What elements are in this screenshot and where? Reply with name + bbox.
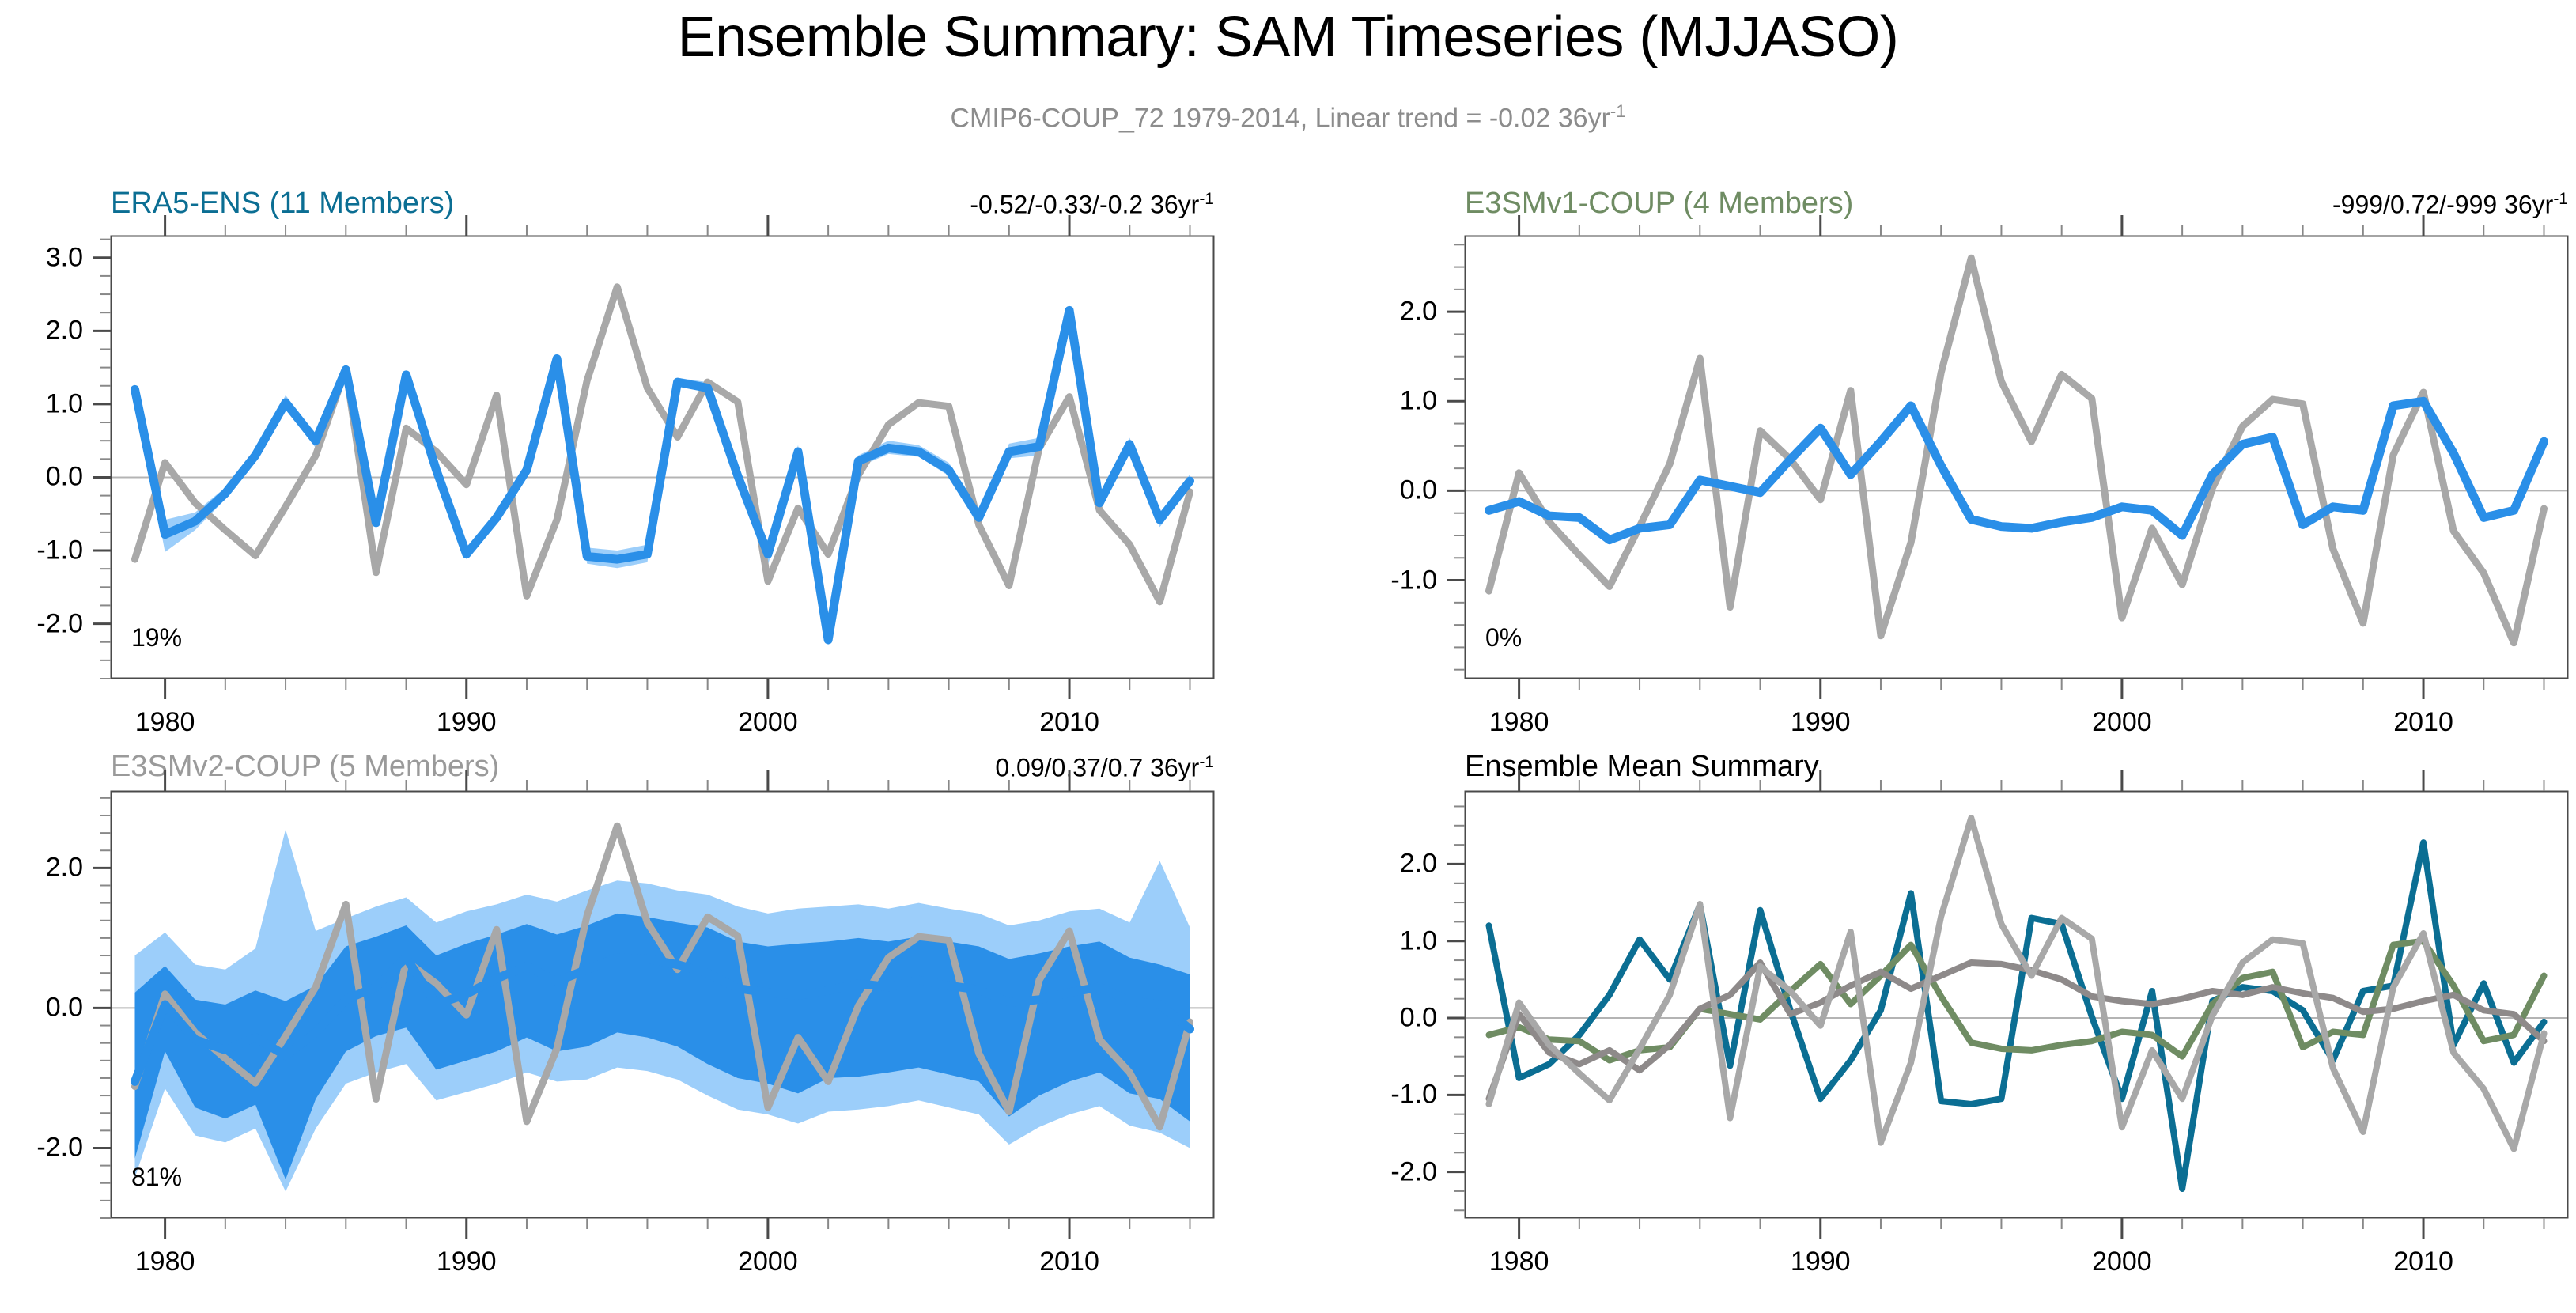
panel-title-era5-ens: ERA5-ENS (11 Members) bbox=[111, 187, 454, 221]
panel-title-e3smv1-coup: E3SMv1-COUP (4 Members) bbox=[1465, 187, 1853, 221]
figure-subtitle: CMIP6-COUP_72 1979-2014, Linear trend = … bbox=[0, 101, 2576, 134]
x-tick-label: 2010 bbox=[2393, 707, 2453, 738]
y-tick-label: 1.0 bbox=[1338, 925, 1437, 956]
panel-stat-exponent: -1 bbox=[1199, 753, 1214, 771]
y-tick-label: 1.0 bbox=[1338, 386, 1437, 417]
percent-label-e3smv1-coup: 0% bbox=[1485, 623, 1522, 653]
y-tick-label: -2.0 bbox=[1338, 1156, 1437, 1187]
subtitle-text: CMIP6-COUP_72 1979-2014, Linear trend = … bbox=[951, 103, 1610, 133]
plot-area-e3smv2-coup: 2.00.0-2.0198019902000201081% bbox=[111, 791, 1214, 1218]
y-tick-label: 0.0 bbox=[1338, 475, 1437, 506]
figure-root: Ensemble Summary: SAM Timeseries (MJJASO… bbox=[0, 0, 2576, 1313]
panel-e3smv1-coup: E3SMv1-COUP (4 Members) -999/0.72/-999 3… bbox=[1465, 187, 2568, 732]
panel-title-e3smv2-coup: E3SMv2-COUP (5 Members) bbox=[111, 750, 499, 784]
x-tick-label: 1980 bbox=[1489, 707, 1549, 738]
panel-stat-e3smv1-coup: -999/0.72/-999 36yr-1 bbox=[2332, 190, 2568, 220]
y-tick-label: 0.0 bbox=[0, 462, 83, 493]
plot-svg-ensemble-mean-summary bbox=[1465, 791, 2568, 1218]
x-tick-label: 1990 bbox=[1791, 1247, 1851, 1277]
x-tick-label: 1990 bbox=[437, 1247, 497, 1277]
y-tick-label: 3.0 bbox=[0, 242, 83, 273]
plot-svg-e3smv2-coup bbox=[111, 791, 1214, 1218]
x-tick-label: 2000 bbox=[2092, 707, 2152, 738]
plot-area-e3smv1-coup: 2.01.00.0-1.019801990200020100% bbox=[1465, 236, 2568, 679]
subtitle-exponent: -1 bbox=[1610, 101, 1626, 121]
y-tick-label: -2.0 bbox=[0, 1133, 83, 1164]
x-tick-label: 1990 bbox=[1791, 707, 1851, 738]
y-tick-label: 2.0 bbox=[1338, 297, 1437, 327]
y-tick-label: -1.0 bbox=[1338, 1080, 1437, 1111]
y-tick-label: -2.0 bbox=[0, 608, 83, 639]
panel-stat-exponent: -1 bbox=[2553, 190, 2568, 208]
panel-stat-text: -0.52/-0.33/-0.2 36yr bbox=[970, 191, 1199, 219]
panel-ensemble-mean-summary: Ensemble Mean Summary 2.01.00.0-1.0-2.01… bbox=[1465, 750, 2568, 1272]
panel-stat-text: 0.09/0.37/0.7 36yr bbox=[995, 754, 1199, 782]
x-tick-label: 2010 bbox=[2393, 1247, 2453, 1277]
x-tick-label: 2000 bbox=[738, 707, 798, 738]
x-tick-label: 2000 bbox=[738, 1247, 798, 1277]
panel-e3smv2-coup: E3SMv2-COUP (5 Members) 0.09/0.37/0.7 36… bbox=[111, 750, 1214, 1272]
percent-label-era5-ens: 19% bbox=[131, 623, 182, 653]
x-tick-label: 2010 bbox=[1039, 707, 1099, 738]
panel-stat-exponent: -1 bbox=[1199, 190, 1214, 208]
page-title: Ensemble Summary: SAM Timeseries (MJJASO… bbox=[0, 5, 2576, 70]
x-tick-label: 1980 bbox=[135, 1247, 195, 1277]
x-tick-label: 2000 bbox=[2092, 1247, 2152, 1277]
y-tick-label: 1.0 bbox=[0, 388, 83, 419]
y-tick-label: -1.0 bbox=[0, 535, 83, 566]
plot-area-era5-ens: 3.02.01.00.0-1.0-2.0198019902000201019% bbox=[111, 236, 1214, 679]
y-tick-label: -1.0 bbox=[1338, 565, 1437, 596]
plot-svg-era5-ens bbox=[111, 236, 1214, 679]
x-tick-label: 1980 bbox=[1489, 1247, 1549, 1277]
panel-stat-e3smv2-coup: 0.09/0.37/0.7 36yr-1 bbox=[995, 753, 1214, 783]
x-tick-label: 2010 bbox=[1039, 1247, 1099, 1277]
plot-svg-e3smv1-coup bbox=[1465, 236, 2568, 679]
y-tick-label: 0.0 bbox=[1338, 1003, 1437, 1034]
x-tick-label: 1980 bbox=[135, 707, 195, 738]
y-tick-label: 2.0 bbox=[0, 853, 83, 884]
y-tick-label: 2.0 bbox=[1338, 849, 1437, 880]
panel-stat-text: -999/0.72/-999 36yr bbox=[2332, 191, 2553, 219]
x-tick-label: 1990 bbox=[437, 707, 497, 738]
panel-stat-era5-ens: -0.52/-0.33/-0.2 36yr-1 bbox=[970, 190, 1214, 220]
plot-area-ensemble-mean-summary: 2.01.00.0-1.0-2.01980199020002010 bbox=[1465, 791, 2568, 1218]
panel-era5-ens: ERA5-ENS (11 Members) -0.52/-0.33/-0.2 3… bbox=[111, 187, 1214, 732]
percent-label-e3smv2-coup: 81% bbox=[131, 1163, 182, 1192]
y-tick-label: 0.0 bbox=[0, 993, 83, 1024]
y-tick-label: 2.0 bbox=[0, 316, 83, 346]
